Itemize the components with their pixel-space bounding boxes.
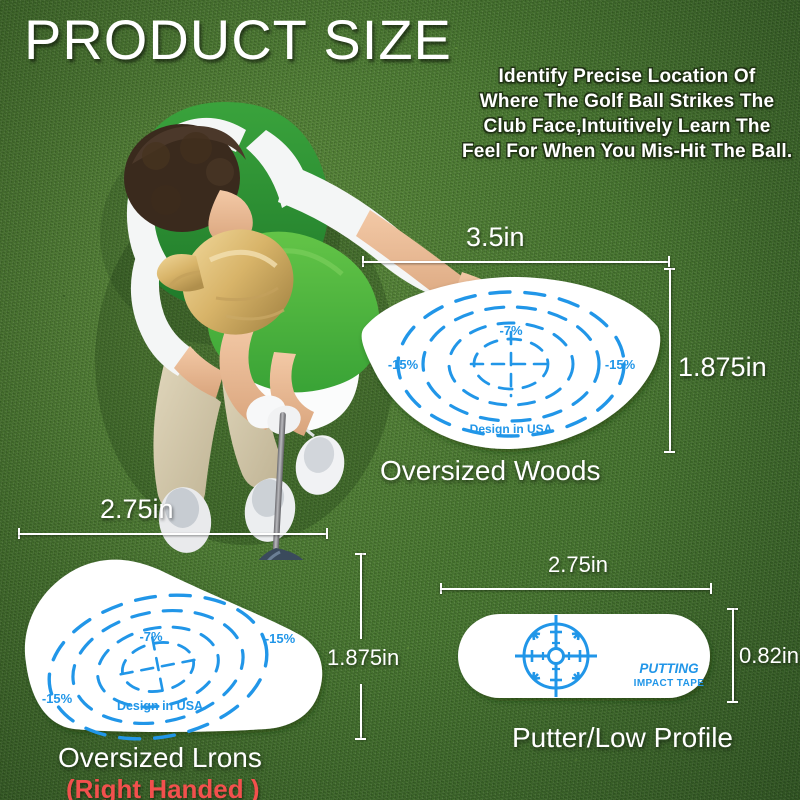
description-line-1: Identify Precise Location Of (462, 64, 792, 89)
reticle-center-ring (549, 649, 564, 664)
putter-width-label: 2.75in (548, 552, 608, 578)
woods-width-label: 3.5in (466, 222, 525, 253)
dimension-cap-right (710, 583, 712, 594)
dimension-cap-bottom (727, 701, 738, 703)
putter-caption: Putter/Low Profile (512, 722, 733, 754)
page-title: PRODUCT SIZE (24, 10, 452, 70)
woods-right-percent-label: -15% (605, 357, 636, 372)
irons-design-footer: Design in USA (117, 699, 203, 713)
woods-height-label: 1.875in (678, 352, 767, 383)
dimension-bar (732, 608, 734, 703)
dimension-cap-right (668, 256, 670, 267)
putter-height-label: 0.82in (739, 643, 799, 669)
dimension-bar (360, 684, 362, 740)
woods-width-dimension-line (362, 256, 670, 267)
description-line-2: Where The Golf Ball Strikes The (462, 89, 792, 114)
product-description: Identify Precise Location Of Where The G… (462, 64, 792, 164)
irons-height-dimension-line-upper (355, 553, 366, 639)
irons-right-percent-label: -15% (265, 631, 296, 646)
putter-width-dimension-line (440, 583, 712, 594)
irons-inner-percent-label: -7% (139, 629, 163, 644)
putter-brand-line-1: PUTTING (639, 661, 699, 676)
irons-width-label: 2.75in (100, 494, 174, 525)
dimension-bar (362, 261, 670, 263)
woods-height-dimension-line (664, 268, 675, 453)
woods-left-percent-label: -15% (388, 357, 419, 372)
putter-height-dimension-line (727, 608, 738, 703)
irons-height-dimension-line-lower (355, 684, 366, 740)
dimension-cap-bottom (664, 451, 675, 453)
infographic-canvas: PRODUCT SIZE Identify Precise Location O… (0, 0, 800, 800)
irons-width-dimension-line (18, 528, 328, 539)
putter-brand-line-2: IMPACT TAPE (634, 678, 705, 689)
oversized-irons-tape-graphic: -7% -15% -15% Design in USA (8, 555, 328, 745)
irons-height-label: 1.875in (327, 645, 399, 671)
description-line-4: Feel For When You Mis-Hit The Ball. (462, 139, 792, 164)
dimension-bar (440, 588, 712, 590)
oversized-irons-caption: Oversized Lrons (58, 742, 262, 774)
description-line-3: Club Face,Intuitively Learn The (462, 114, 792, 139)
putter-tape-graphic: PUTTING IMPACT TAPE (455, 610, 713, 702)
woods-inner-percent-label: -7% (499, 323, 523, 338)
woods-design-footer: Design in USA (470, 422, 553, 436)
oversized-woods-tape-graphic: -7% -15% -15% Design in USA (358, 272, 664, 454)
oversized-woods-caption: Oversized Woods (380, 455, 600, 487)
dimension-bar (360, 553, 362, 639)
dimension-cap-bottom (355, 738, 366, 740)
irons-left-percent-label: -15% (42, 691, 73, 706)
dimension-bar (669, 268, 671, 453)
irons-right-handed-note: (Right Handed ) (66, 774, 260, 800)
dimension-cap-right (326, 528, 328, 539)
dimension-bar (18, 533, 328, 535)
